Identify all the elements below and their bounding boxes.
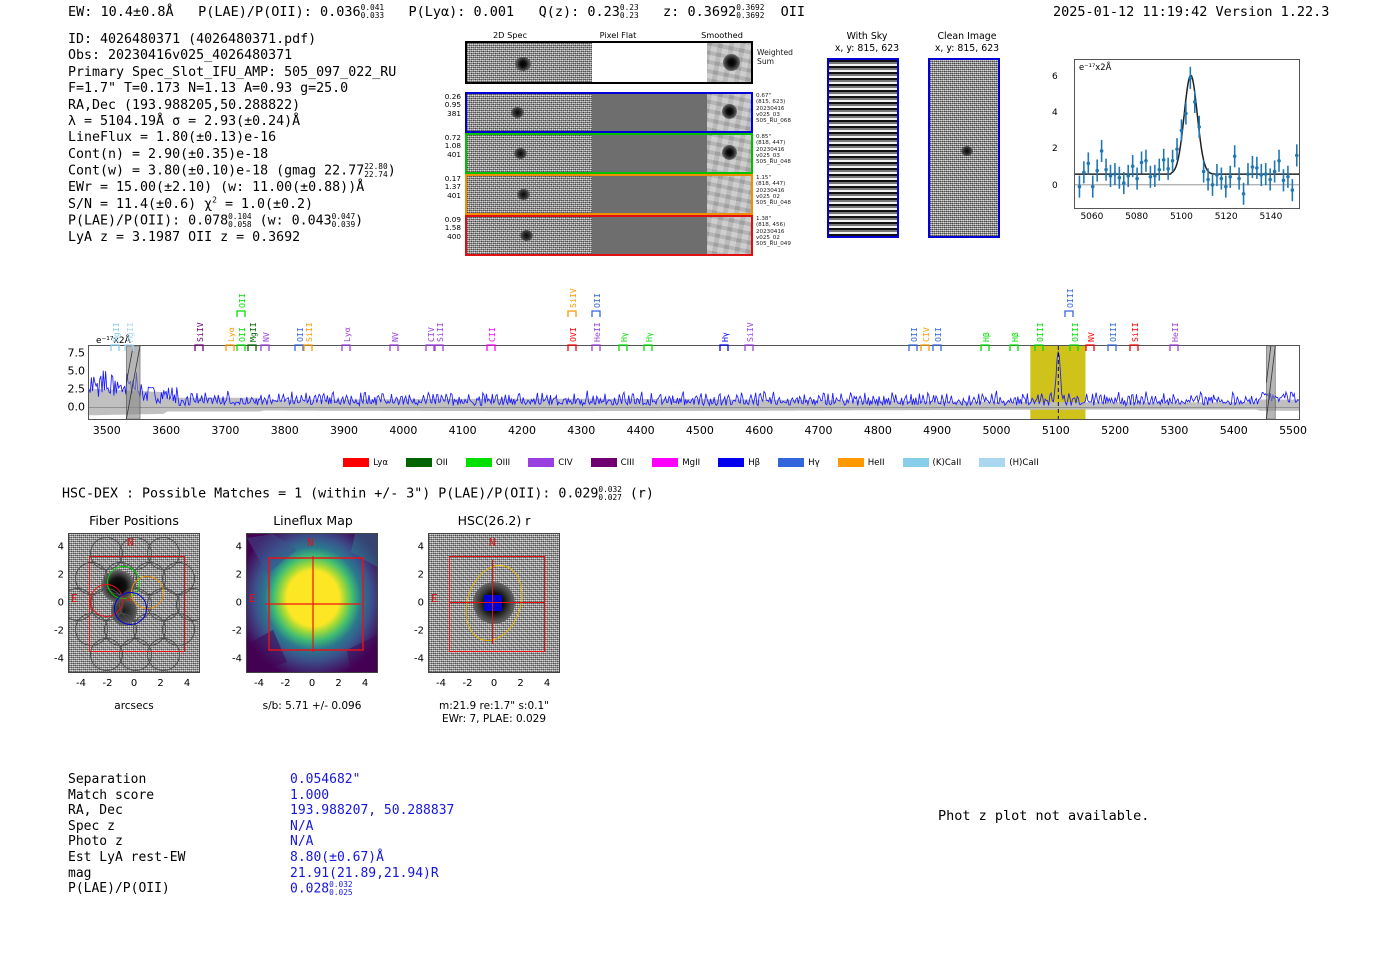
exposure-row (465, 92, 753, 133)
compass-north-lineflux: N (307, 536, 314, 549)
spectrum-x-tick: 5400 (1220, 424, 1248, 437)
legend-swatch (591, 458, 617, 467)
header-qz-value: 0.23 (587, 4, 620, 20)
with-sky-image (827, 58, 899, 238)
weighted-sum-pixelflat-image (592, 43, 707, 82)
panel-x-tick: 2 (517, 678, 523, 689)
legend-label: CIV (558, 458, 572, 468)
header-qz-label: Q(z): (539, 4, 580, 20)
header-summary-line: EW: 10.4±0.8Å P(LAE)/P(OII): 0.0360.0410… (68, 4, 805, 20)
match-table-key: P(LAE)/P(OII) (68, 881, 170, 897)
weighted-sum-row (465, 41, 753, 84)
panel-y-tick: 2 (404, 570, 424, 581)
column-title-smoothed: Smoothed (672, 30, 772, 40)
panel-x-tick: -2 (103, 678, 113, 689)
legend-item: (H)CaII (979, 458, 1039, 468)
legend-label: MgII (682, 458, 700, 468)
exposure-row (465, 174, 753, 215)
compass-north-fiber: N (127, 536, 134, 549)
spectrum-x-tick: 5300 (1160, 424, 1188, 437)
compass-east-lineflux: E (249, 592, 256, 605)
emission-line-label: NV (390, 308, 400, 342)
legend-swatch (979, 458, 1005, 467)
emission-line-brace (124, 341, 135, 354)
line-fit-plot: e⁻¹⁷x2Å 024650605080510051205140 (1040, 55, 1302, 233)
emission-line-label: SiII (435, 308, 445, 342)
emission-line-label: MgII (248, 308, 258, 342)
spectrum-x-tick: 4900 (923, 424, 951, 437)
match-table-value: 193.988207, 50.288837 (290, 803, 454, 819)
legend-item: (K)CaII (903, 458, 962, 468)
header-plae-value: 0.036 (320, 4, 361, 20)
emission-line-brace (908, 341, 919, 354)
emission-line-brace (434, 341, 445, 354)
header-z-label: z: (663, 4, 679, 20)
panel-caption-lineflux: s/b: 5.71 +/- 0.096 (246, 700, 378, 713)
panel-y-tick: 0 (44, 598, 64, 609)
legend-label: (H)CaII (1009, 458, 1039, 468)
panel-x-tick: -4 (436, 678, 446, 689)
emission-line-brace (225, 341, 236, 354)
panel-x-tick: 0 (131, 678, 137, 689)
spectrum-x-tick: 5100 (1042, 424, 1070, 437)
legend-label: OIII (496, 458, 510, 468)
header-ew: EW: 10.4±0.8Å (68, 4, 174, 20)
emission-line-brace (920, 341, 931, 354)
spectrum-x-tick: 4000 (389, 424, 417, 437)
panel-y-tick: 4 (404, 542, 424, 553)
exposure-pixelflat-image (592, 135, 707, 172)
legend-label: HeII (868, 458, 885, 468)
spectrum-x-tick: 3500 (93, 424, 121, 437)
match-table-key: Spec z (68, 819, 115, 835)
legend-label: Hβ (748, 458, 760, 468)
panel-caption-hsc: m:21.9 re:1.7" s:0.1"EWr: 7, PLAE: 0.029 (418, 700, 570, 726)
emission-line-brace (1085, 341, 1096, 354)
exposure-left-labels: 0.091.58400 (413, 216, 461, 241)
exposure-pixelflat-image (592, 217, 707, 254)
info-plae: P(LAE)/P(OII): 0.0780.1040.058 (w: 0.043… (68, 213, 396, 230)
spectrum-x-tick: 5200 (1101, 424, 1129, 437)
spectrum-x-tick: 5000 (983, 424, 1011, 437)
panel-x-tick: -4 (254, 678, 264, 689)
exposure-right-labels: 1.15"(818, 447)20230416v025_02505_RU_048 (756, 175, 816, 206)
spectrum-x-tick: 4200 (508, 424, 536, 437)
legend-item: Hβ (718, 458, 760, 468)
panel-x-tick: 0 (309, 678, 315, 689)
legend-swatch (343, 458, 369, 467)
emission-line-brace (1034, 341, 1045, 354)
emission-line-brace (1129, 341, 1140, 354)
header-plae-label: P(LAE)/P(OII): (198, 4, 312, 20)
lineflux-map-image: N E (246, 533, 378, 673)
emission-line-brace (591, 307, 602, 320)
panel-x-tick: -2 (281, 678, 291, 689)
panel-title-hsc-r: HSC(26.2) r (424, 513, 564, 528)
exposure-smoothed-image (707, 94, 751, 131)
legend-swatch (718, 458, 744, 467)
detection-info-block: ID: 4026480371 (4026480371.pdf) Obs: 202… (68, 32, 396, 247)
exposure-left-labels: 0.721.08401 (413, 134, 461, 159)
header-plae-lo: 0.033 (361, 12, 384, 20)
line-fit-x-tick: 5100 (1170, 212, 1193, 222)
exposure-2dspec-image (467, 94, 592, 131)
emission-line-label: Lyα (342, 308, 352, 342)
panel-y-tick: -4 (404, 654, 424, 665)
emission-line-brace (591, 341, 602, 354)
spectrum-x-tick: 4500 (686, 424, 714, 437)
info-params: F=1.7" T=0.173 N=1.13 A=0.93 g=25.0 (68, 81, 396, 97)
emission-line-label: OIII (1108, 308, 1118, 342)
exposure-right-labels: 0.85"(818, 447)20230416v025_03505_RU_048 (756, 134, 816, 165)
match-table-value: N/A (290, 834, 313, 850)
panel-x-tick: 4 (184, 678, 190, 689)
emission-line-label: OII (592, 274, 602, 308)
spectrum-x-tick: 4100 (449, 424, 477, 437)
match-table-key: Match score (68, 788, 154, 804)
compass-east-fiber: E (71, 592, 78, 605)
emission-line-brace (236, 341, 247, 354)
panel-x-tick: -2 (463, 678, 473, 689)
weighted-sum-smoothed-image (707, 43, 751, 82)
emission-line-brace (744, 341, 755, 354)
emission-line-label: SiII (1130, 308, 1140, 342)
cutout-title-clean-image: Clean Imagex, y: 815, 623 (908, 31, 1026, 54)
line-fit-x-tick: 5060 (1080, 212, 1103, 222)
emission-line-label: OII (237, 274, 247, 308)
emission-line-label: Hβ (1010, 308, 1020, 342)
photz-unavailable-message: Phot z plot not available. (938, 808, 1149, 824)
emission-line-brace (260, 341, 271, 354)
line-fit-x-tick: 5080 (1125, 212, 1148, 222)
match-table-key: RA, Dec (68, 803, 123, 819)
spectrum-x-tick: 4400 (627, 424, 655, 437)
fiber-circle (90, 638, 123, 671)
emission-line-label: CIV (921, 308, 931, 342)
exposure-pixelflat-image (592, 94, 707, 131)
legend-item: OII (406, 458, 448, 468)
panel-title-fiber-positions: Fiber Positions (64, 513, 204, 528)
line-fit-x-tick: 5140 (1259, 212, 1282, 222)
info-sn-chi2: S/N = 11.4(±0.6) χ2 = 1.0(±0.2) (68, 197, 396, 213)
panel-y-tick: -4 (44, 654, 64, 665)
emission-line-brace (932, 341, 943, 354)
exposure-right-labels: 1.38"(818, 456)20230416v025_02505_RU_049 (756, 216, 816, 247)
spectrum-x-tick: 3600 (152, 424, 180, 437)
compass-east-hsc: E (431, 592, 438, 605)
emission-line-brace (1107, 341, 1118, 354)
emission-line-brace (719, 341, 730, 354)
emission-line-label: SiIV (195, 308, 205, 342)
info-ewr: EWr = 15.00(±2.10) (w: 11.00(±0.88))Å (68, 180, 396, 196)
info-id: ID: 4026480371 (4026480371.pdf) (68, 32, 396, 48)
legend-swatch (778, 458, 804, 467)
fiber-circle (147, 638, 180, 671)
legend-swatch (406, 458, 432, 467)
header-qz-lo: 0.23 (620, 12, 639, 20)
legend-swatch (528, 458, 554, 467)
panel-y-tick: 2 (222, 570, 242, 581)
exposure-row (465, 215, 753, 256)
emission-line-brace (1169, 341, 1180, 354)
spectrum-x-tick: 4800 (864, 424, 892, 437)
legend-item: MgII (652, 458, 700, 468)
spectrum-x-tick: 3800 (271, 424, 299, 437)
column-title-pixelflat: Pixel Flat (568, 30, 668, 40)
compass-north-hsc: N (489, 536, 496, 549)
panel-x-tick: -4 (76, 678, 86, 689)
emission-line-brace (567, 307, 578, 320)
spectrum-x-tick: 4600 (745, 424, 773, 437)
legend-label: (K)CaII (933, 458, 962, 468)
match-table-value: 21.91(21.89,21.94)R (290, 866, 439, 882)
emission-line-label: Hγ (619, 308, 629, 342)
panel-y-tick: 2 (44, 570, 64, 581)
spectrum-y-tick: 2.5 (53, 383, 85, 396)
header-z-value: 0.3692 (687, 4, 736, 20)
legend-label: Hγ (808, 458, 820, 468)
emission-line-brace (643, 341, 654, 354)
match-table-value: 0.054682" (290, 772, 360, 788)
legend-swatch (652, 458, 678, 467)
exposure-2dspec-image (467, 217, 592, 254)
legend-label: Lyα (373, 458, 388, 468)
emission-line-label: MgII (125, 308, 135, 342)
exposure-pixelflat-image (592, 176, 707, 213)
panel-x-tick: 4 (544, 678, 550, 689)
emission-line-brace (341, 341, 352, 354)
panel-x-tick: 2 (157, 678, 163, 689)
info-radec: RA,Dec (193.988205,50.288822) (68, 98, 396, 114)
hsc-dex-summary: HSC-DEX : Possible Matches = 1 (within +… (62, 486, 654, 502)
spectrum-x-tick: 3700 (211, 424, 239, 437)
emission-line-brace (1009, 341, 1020, 354)
line-fit-axes: e⁻¹⁷x2Å (1074, 59, 1300, 209)
emission-line-brace (194, 341, 205, 354)
match-table-value: 8.80(±0.67)Å (290, 850, 384, 866)
panel-y-tick: -2 (44, 626, 64, 637)
emission-line-brace (980, 341, 991, 354)
match-table-key: Separation (68, 772, 146, 788)
timestamp-version: 2025-01-12 11:19:42 Version 1.22.3 (1053, 4, 1329, 20)
emission-line-label: MgII (111, 308, 121, 342)
legend-label: CIII (621, 458, 635, 468)
weighted-sum-2dspec-image (467, 43, 592, 82)
emission-line-label: Hγ (644, 308, 654, 342)
match-table-key: Photo z (68, 834, 123, 850)
legend-swatch (903, 458, 929, 467)
info-obs: Obs: 20230416v025_4026480371 (68, 48, 396, 64)
info-cont-n: Cont(n) = 2.90(±0.35)e-18 (68, 147, 396, 163)
emission-line-brace (618, 341, 629, 354)
panel-y-tick: -2 (404, 626, 424, 637)
panel-x-tick: 0 (491, 678, 497, 689)
panel-y-tick: 0 (222, 598, 242, 609)
exposure-2dspec-image (467, 135, 592, 172)
line-fit-units-label: e⁻¹⁷x2Å (1079, 62, 1111, 72)
panel-caption-fiber: arcsecs (68, 700, 200, 713)
emission-line-label: NV (1086, 308, 1096, 342)
emission-line-label: CII (487, 308, 497, 342)
spectrum-x-tick: 3900 (330, 424, 358, 437)
panel-y-tick: -4 (222, 654, 242, 665)
info-cont-w: Cont(w) = 3.80(±0.10)e-18 (gmag 22.7722.… (68, 163, 396, 180)
spectrum-y-tick: 0.0 (53, 401, 85, 414)
emission-line-label: SiIV (568, 274, 578, 308)
spectrum-x-tick: 4700 (805, 424, 833, 437)
emission-line-brace (389, 341, 400, 354)
header-plya: P(Lyα): 0.001 (409, 4, 515, 20)
emission-line-brace (567, 341, 578, 354)
match-table-key: mag (68, 866, 91, 882)
exposure-left-labels: 0.260.95381 (413, 93, 461, 118)
emission-line-label: OIII (1070, 308, 1080, 342)
legend-swatch (466, 458, 492, 467)
info-lineflux: LineFlux = 1.80(±0.13)e-16 (68, 130, 396, 146)
legend-item: OIII (466, 458, 510, 468)
panel-y-tick: 0 (404, 598, 424, 609)
match-table-key: Est LyA rest-EW (68, 850, 185, 866)
full-spectrum-svg (89, 346, 1299, 419)
panel-y-tick: -2 (222, 626, 242, 637)
spectrum-x-tick: 4300 (567, 424, 595, 437)
exposure-smoothed-image (707, 135, 751, 172)
cutout-title-with-sky: With Skyx, y: 815, 623 (812, 31, 922, 54)
legend-item: Lyα (343, 458, 388, 468)
spec2d-panel-group: 2D Spec Pixel Flat Smoothed Weighted Sum… (440, 30, 790, 252)
emission-line-label: OIII (1035, 308, 1045, 342)
emission-line-brace (236, 307, 247, 320)
line-fit-svg (1075, 60, 1299, 208)
info-primary-spec: Primary Spec_Slot_IFU_AMP: 505_097_022_R… (68, 65, 396, 81)
exposure-smoothed-image (707, 217, 751, 254)
exposure-right-labels: 0.67"(815, 623)20230416v025_03505_RU_068 (756, 93, 816, 124)
fiber-positions-image: ✳ N E (68, 533, 200, 673)
full-spectrum-plot (88, 345, 1300, 420)
match-table-value: 0.0280.0320.025 (290, 881, 353, 897)
emission-line-brace (247, 341, 258, 354)
emission-line-brace (303, 341, 314, 354)
info-redshifts: LyA z = 3.1987 OII z = 0.3692 (68, 230, 396, 246)
weighted-sum-label: Weighted Sum (757, 48, 793, 66)
header-z-lo: 0.3692 (736, 12, 764, 20)
exposure-row (465, 133, 753, 174)
panel-y-tick: 4 (222, 542, 242, 553)
info-lambda: λ = 5104.19Å σ = 2.93(±0.24)Å (68, 114, 396, 130)
column-title-2dspec: 2D Spec (460, 30, 560, 40)
spectrum-y-tick: 7.5 (53, 347, 85, 360)
legend-swatch (838, 458, 864, 467)
legend-item: HeII (838, 458, 885, 468)
emission-line-label: Lyα (226, 308, 236, 342)
emission-line-brace (486, 341, 497, 354)
exposure-smoothed-image (707, 176, 751, 213)
exposure-2dspec-image (467, 176, 592, 213)
panel-title-lineflux-map: Lineflux Map (243, 513, 383, 528)
hsc-r-image: N E (428, 533, 560, 673)
line-fit-x-tick: 5120 (1215, 212, 1238, 222)
header-z-type: OII (781, 4, 805, 20)
legend-item: CIV (528, 458, 572, 468)
emission-line-brace (1069, 341, 1080, 354)
spectrum-y-tick: 5.0 (53, 365, 85, 378)
emission-line-label: SiII (304, 308, 314, 342)
emission-line-label: HeII (1170, 308, 1180, 342)
emission-line-label: Hγ (720, 308, 730, 342)
legend-label: OII (436, 458, 448, 468)
match-table-value: 1.000 (290, 788, 329, 804)
match-table-value: N/A (290, 819, 313, 835)
legend-item: CIII (591, 458, 635, 468)
emission-line-label: OII (909, 308, 919, 342)
emission-line-label: NV (261, 308, 271, 342)
clean-image (928, 58, 1000, 238)
panel-x-tick: 2 (335, 678, 341, 689)
exposure-left-labels: 0.171.37401 (413, 175, 461, 200)
spectrum-legend: LyαOIIOIIICIVCIIIMgIIHβHγHeII(K)CaII(H)C… (0, 452, 1400, 471)
legend-item: Hγ (778, 458, 820, 468)
emission-line-label: SiIV (745, 308, 755, 342)
emission-line-label: OIII (1065, 274, 1075, 308)
emission-line-label: OII (933, 308, 943, 342)
panel-x-tick: 4 (362, 678, 368, 689)
emission-line-label: Hβ (981, 308, 991, 342)
spectrum-x-tick: 5500 (1279, 424, 1307, 437)
emission-line-brace (110, 341, 121, 354)
panel-y-tick: 4 (44, 542, 64, 553)
